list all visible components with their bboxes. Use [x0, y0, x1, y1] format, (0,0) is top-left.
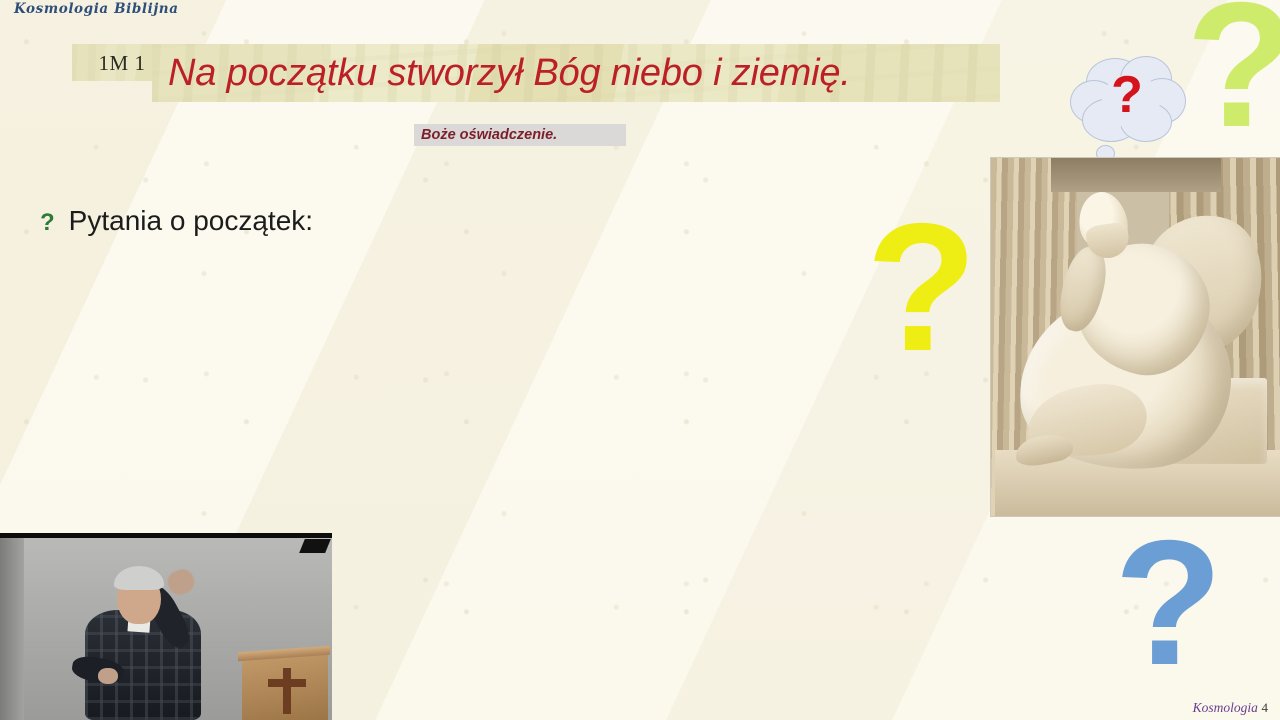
running-header: Kosmologia Biblijna — [14, 1, 179, 17]
question-mark-blue-icon: ? — [1114, 514, 1223, 692]
footer-page-number: 4 — [1262, 700, 1269, 715]
philosopher-statue-image — [990, 157, 1280, 517]
cross-icon — [283, 668, 291, 714]
bullet-line: ? Pytania o początek: — [40, 205, 313, 237]
slide-title: Na początku stworzył Bóg niebo i ziemię. — [168, 44, 851, 102]
footer: Kosmologia 4 — [1193, 700, 1268, 716]
slide-canvas: Kosmologia Biblijna 1M 1 Na początku stw… — [0, 0, 1280, 720]
question-mark-bullet-icon: ? — [40, 209, 55, 237]
footer-series-label: Kosmologia — [1193, 700, 1258, 715]
bullet-text: Pytania o początek: — [69, 205, 313, 237]
thought-bubble-icon: ? — [1068, 56, 1186, 160]
slide-subtitle: Boże oświadczenie. — [421, 124, 557, 146]
speaker-video-inset[interactable] — [0, 533, 332, 720]
question-mark-green-icon: ? — [1186, 0, 1280, 154]
question-mark-yellow-icon: ? — [866, 196, 977, 378]
thought-bubble-question-label: ? — [1068, 56, 1186, 134]
